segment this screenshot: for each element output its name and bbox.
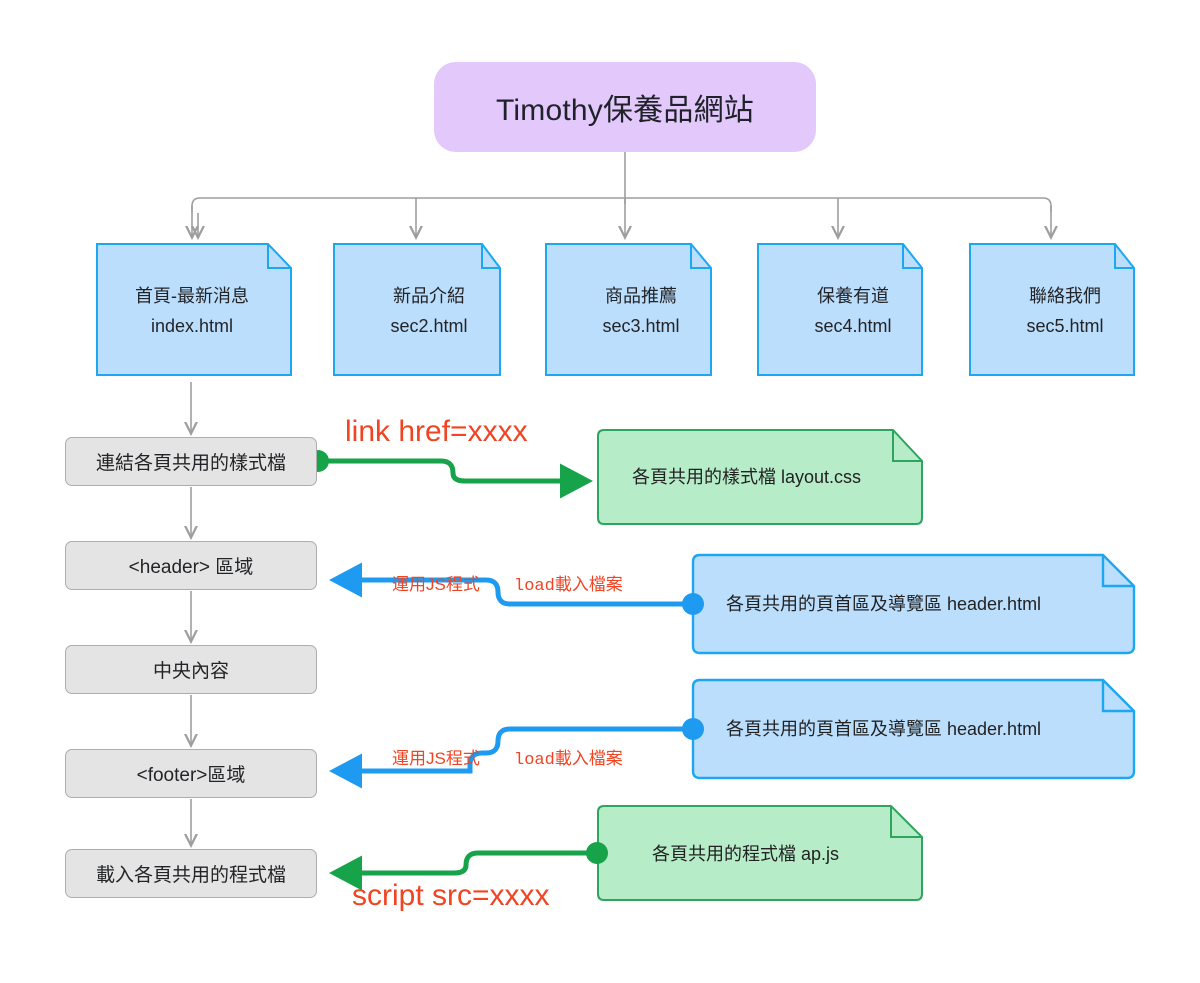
resource-card-label: 各頁共用的頁首區及導覽區 header.html	[726, 590, 1041, 616]
edge-label-js-program-1: 運用JS程式	[392, 570, 480, 595]
page-card-name: 商品推薦	[605, 285, 677, 308]
page-card-name: 首頁-最新消息	[135, 285, 249, 308]
edge-label-load-file-2: load載入檔案	[514, 744, 623, 770]
page-card-sec3[interactable]: 商品推薦 sec3.html	[543, 241, 739, 381]
page-card-index[interactable]: 首頁-最新消息 index.html	[94, 241, 290, 381]
structure-box-header[interactable]: <header> 區域	[65, 541, 317, 590]
resource-card-layout-css[interactable]: 各頁共用的樣式檔 layout.css	[596, 428, 924, 524]
resource-card-label: 各頁共用的程式檔 ap.js	[652, 840, 839, 866]
page-card-file: sec2.html	[390, 315, 467, 338]
structure-box-main-content[interactable]: 中央內容	[65, 645, 317, 694]
page-card-file: sec4.html	[814, 315, 891, 338]
page-card-sec5[interactable]: 聯絡我們 sec5.html	[967, 241, 1163, 381]
page-card-name: 聯絡我們	[1029, 285, 1101, 308]
resource-card-ap-js[interactable]: 各頁共用的程式檔 ap.js	[596, 803, 922, 903]
structure-box-label: 連結各頁共用的樣式檔	[96, 448, 286, 475]
page-card-sec2[interactable]: 新品介紹 sec2.html	[331, 241, 527, 381]
edge-link-href	[307, 450, 586, 481]
structure-box-label: 中央內容	[153, 656, 229, 683]
resource-card-header-html-1[interactable]: 各頁共用的頁首區及導覽區 header.html	[692, 553, 1134, 653]
resource-card-label: 各頁共用的樣式檔 layout.css	[632, 463, 861, 489]
page-card-file: sec3.html	[602, 315, 679, 338]
page-title: Timothy保養品網站	[434, 62, 816, 152]
page-card-file: index.html	[151, 315, 233, 338]
resource-card-header-html-2[interactable]: 各頁共用的頁首區及導覽區 header.html	[692, 678, 1134, 778]
edge-script-src	[336, 842, 608, 873]
page-card-sec4[interactable]: 保養有道 sec4.html	[755, 241, 951, 381]
diagram-canvas: Timothy保養品網站 首頁-最新消息 index.html 新品介紹 sec…	[0, 0, 1200, 983]
edge-label-load-file-1: load載入檔案	[514, 570, 623, 596]
page-card-name: 保養有道	[817, 285, 889, 308]
structure-box-footer[interactable]: <footer>區域	[65, 749, 317, 798]
page-title-text: Timothy保養品網站	[496, 85, 754, 129]
edge-label-js-program-2: 運用JS程式	[392, 744, 480, 769]
structure-box-label: <header> 區域	[129, 552, 254, 579]
resource-card-label: 各頁共用的頁首區及導覽區 header.html	[726, 715, 1041, 741]
page-card-file: sec5.html	[1026, 315, 1103, 338]
tree-connector	[192, 152, 1051, 236]
structure-box-link-stylesheet[interactable]: 連結各頁共用的樣式檔	[65, 437, 317, 486]
page-card-name: 新品介紹	[393, 285, 465, 308]
edge-label-script-src: script src=xxxx	[352, 879, 550, 913]
structure-box-label: <footer>區域	[137, 760, 246, 787]
structure-box-load-script[interactable]: 載入各頁共用的程式檔	[65, 849, 317, 898]
structure-box-label: 載入各頁共用的程式檔	[96, 860, 286, 887]
edge-label-link-href: link href=xxxx	[345, 415, 528, 449]
